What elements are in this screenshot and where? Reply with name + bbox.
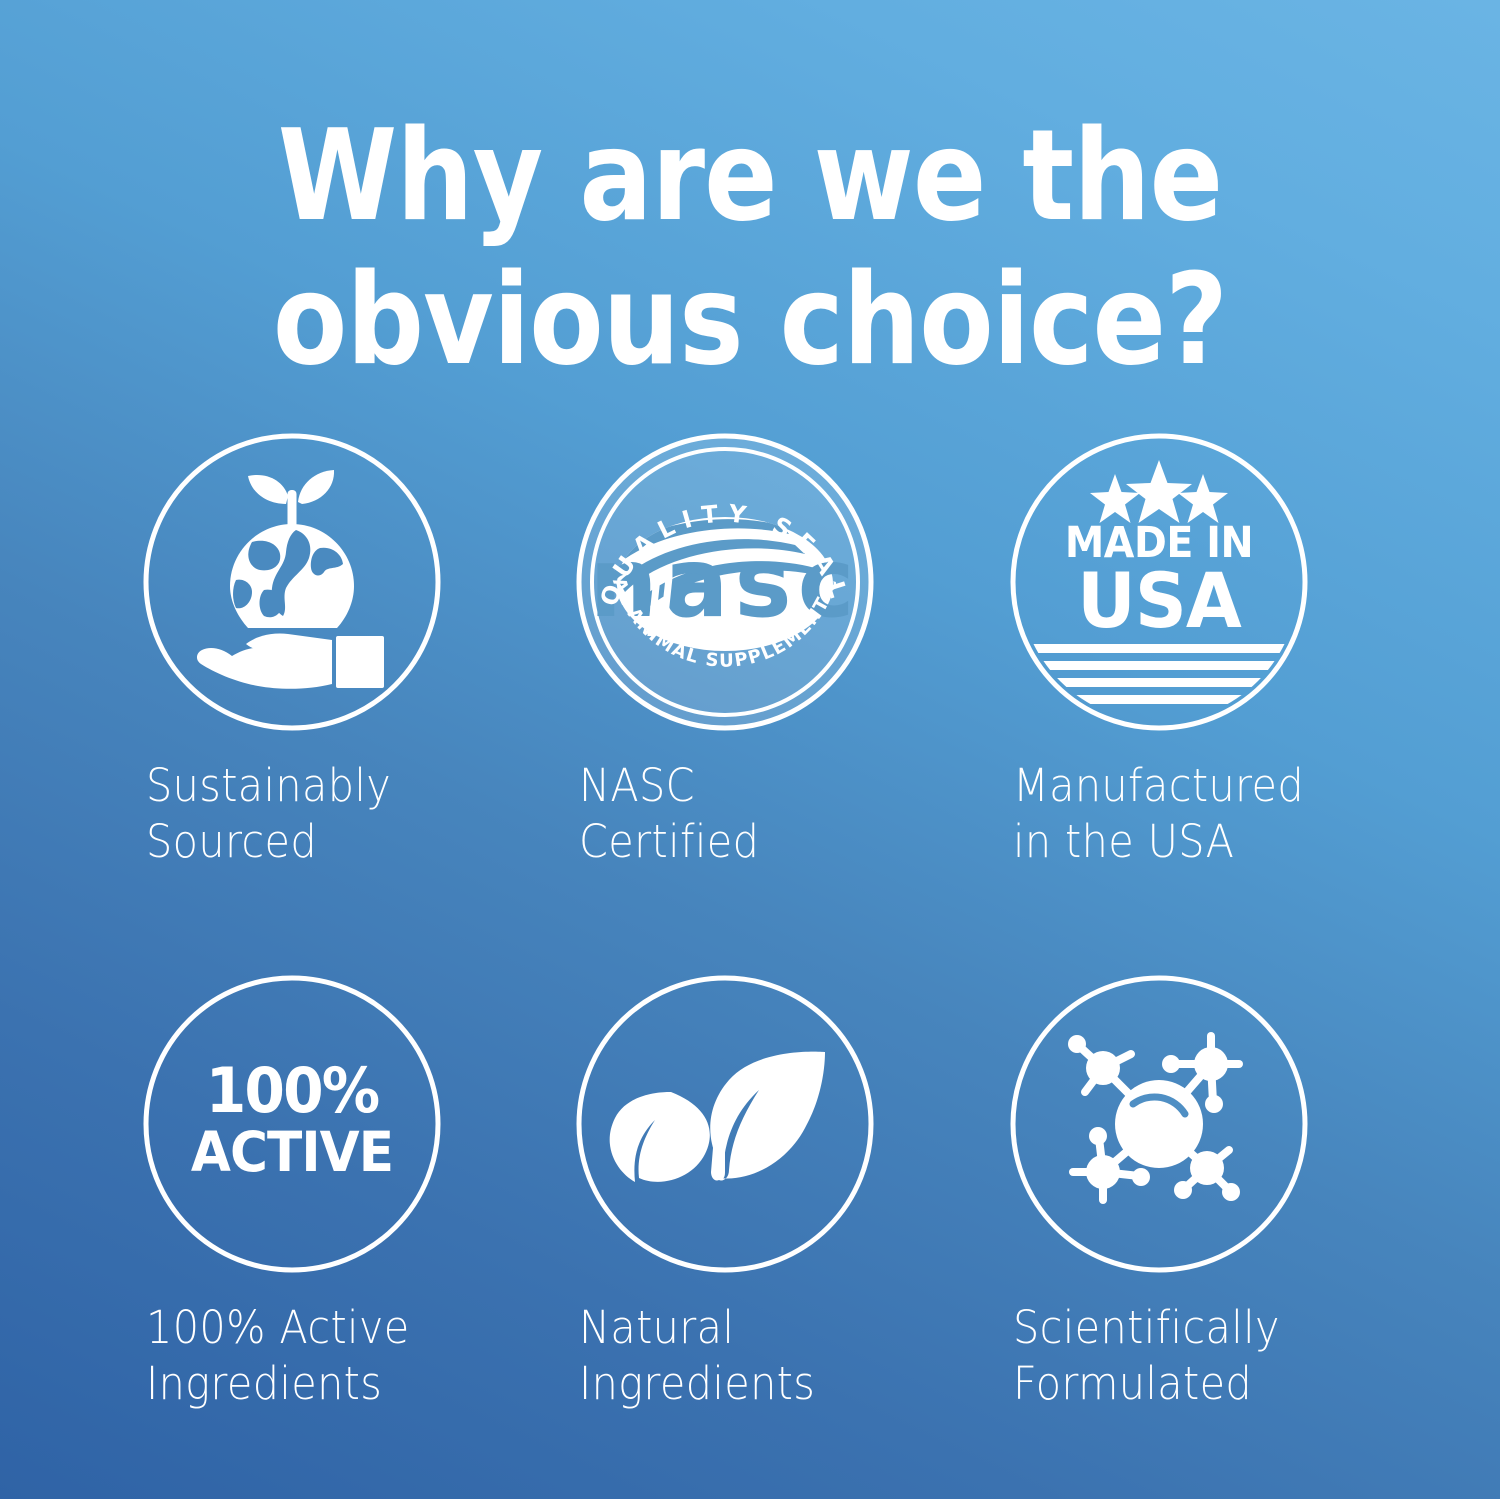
caption-line-1: Sustainably xyxy=(146,758,519,814)
feature-item-sustainably-sourced: Sustainably Sourced xyxy=(118,430,551,972)
made-in-usa-icon: MADE IN USA xyxy=(1007,430,1311,734)
molecule-icon xyxy=(1007,972,1311,1276)
caption-line-1: Natural xyxy=(579,1300,952,1356)
hundred-percent-active-icon: 100% ACTIVE xyxy=(140,972,444,1276)
feature-item-100-percent-active: 100% ACTIVE 100% Active Ingredients xyxy=(118,972,551,1499)
feature-item-nasc-certified: nasc QUALITY SEAL NATIONAL ANIMAL SUPPLE… xyxy=(551,430,984,972)
caption-line-1: Scientifically xyxy=(1013,1300,1386,1356)
caption-line-2: Ingredients xyxy=(579,1356,952,1412)
star-icon xyxy=(1090,460,1228,523)
promo-poster: Why are we the obvious choice? xyxy=(0,0,1500,1499)
feature-caption: 100% Active Ingredients xyxy=(146,1300,519,1412)
headline-line-2: obvious choice? xyxy=(105,248,1395,392)
caption-line-2: Ingredients xyxy=(146,1356,519,1412)
caption-line-1: 100% Active xyxy=(146,1300,519,1356)
caption-line-1: Manufactured xyxy=(1013,758,1386,814)
two-leaves-icon xyxy=(573,972,877,1276)
caption-line-2: Certified xyxy=(579,814,952,870)
feature-item-natural-ingredients: Natural Ingredients xyxy=(551,972,984,1499)
feature-grid: Sustainably Sourced xyxy=(118,430,1418,1499)
caption-line-1: NASC xyxy=(579,758,952,814)
feature-caption: Scientifically Formulated xyxy=(1013,1300,1386,1412)
caption-line-2: in the USA xyxy=(1013,814,1386,870)
feature-caption: Manufactured in the USA xyxy=(1013,758,1386,870)
feature-caption: NASC Certified xyxy=(579,758,952,870)
caption-line-2: Sourced xyxy=(146,814,519,870)
headline-line-1: Why are we the xyxy=(105,104,1395,248)
globe-in-hand-icon xyxy=(140,430,444,734)
nasc-quality-seal-icon: nasc QUALITY SEAL NATIONAL ANIMAL SUPPLE… xyxy=(573,430,877,734)
page-title: Why are we the obvious choice? xyxy=(105,104,1395,392)
caption-line-2: Formulated xyxy=(1013,1356,1386,1412)
feature-caption: Natural Ingredients xyxy=(579,1300,952,1412)
feature-caption: Sustainably Sourced xyxy=(146,758,519,870)
feature-item-made-in-usa: MADE IN USA Manufactured in the USA xyxy=(985,430,1418,972)
feature-item-scientifically-formulated: Scientifically Formulated xyxy=(985,972,1418,1499)
